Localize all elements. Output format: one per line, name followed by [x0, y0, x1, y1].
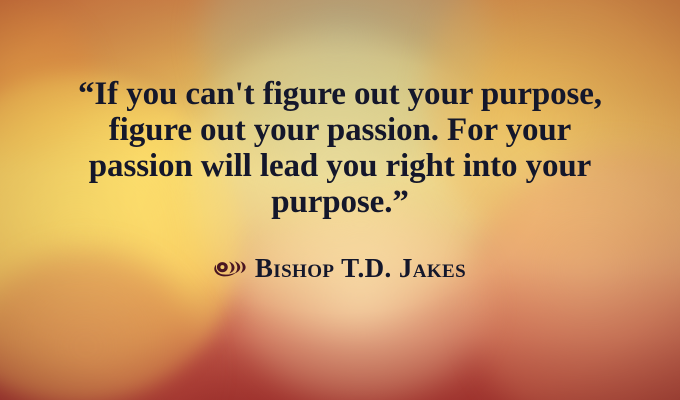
- quote-line-4: purpose.”: [26, 184, 654, 220]
- fleuron-swirl-icon: [214, 259, 246, 277]
- quote-text: “If you can't figure out your purpose, f…: [0, 0, 680, 220]
- attribution-name: Bishop T.D. Jakes: [255, 254, 466, 282]
- quote-content: “If you can't figure out your purpose, f…: [0, 0, 680, 400]
- quote-line-2: figure out your passion. For your: [26, 112, 654, 148]
- quote-line-1: “If you can't figure out your purpose,: [26, 76, 654, 112]
- quote-line-3: passion will lead you right into your: [26, 148, 654, 184]
- quote-image-canvas: “If you can't figure out your purpose, f…: [0, 0, 680, 400]
- quote-attribution: Bishop T.D. Jakes: [214, 254, 466, 282]
